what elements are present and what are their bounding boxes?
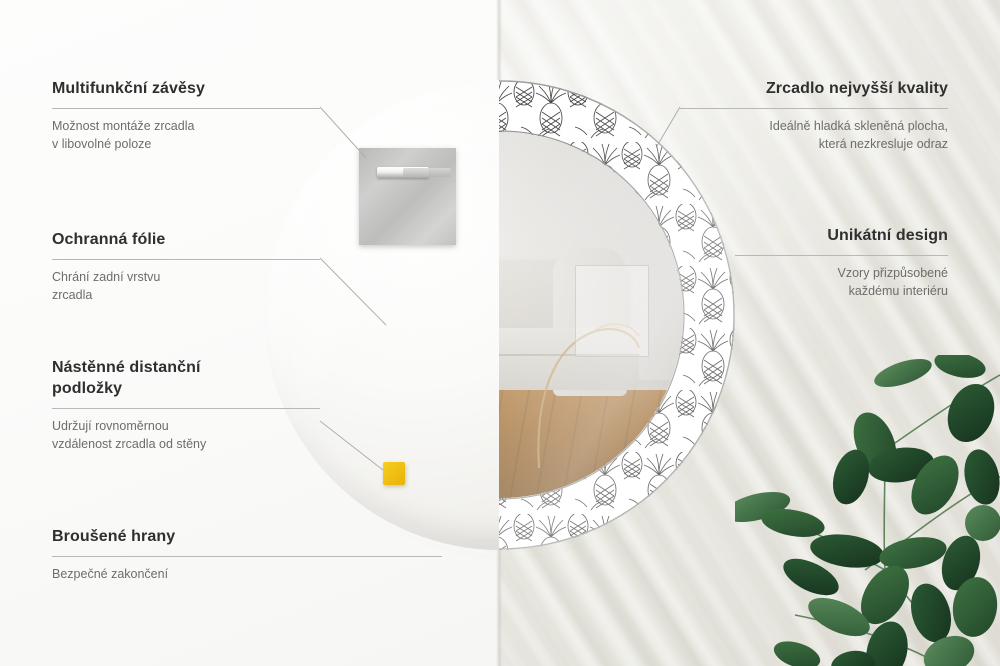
- callout-zrcadlo-nejvyssi-kvality: Zrcadlo nejvyšší kvality Ideálně hladká …: [680, 78, 948, 153]
- callout-description: Udržují rovnoměrnou vzdálenost zrcadla o…: [52, 418, 320, 453]
- callout-title: Broušené hrany: [52, 526, 442, 547]
- mirror-back-sticker: [575, 265, 649, 357]
- callout-rule: [52, 259, 320, 260]
- callout-title: Nástěnné distanční podložky: [52, 357, 320, 399]
- round-mirror: [265, 80, 735, 550]
- infographic-canvas: Multifunkční závěsy Možnost montáže zrca…: [0, 0, 1000, 666]
- callout-description: Chrání zadní vrstvu zrcadla: [52, 269, 320, 304]
- wall-spacer-pad: [383, 462, 405, 485]
- callout-ochranna-folie: Ochranná fólie Chrání zadní vrstvu zrcad…: [52, 229, 320, 304]
- callout-rule: [52, 556, 442, 557]
- callout-description: Bezpečné zakončení: [52, 566, 442, 584]
- foliage-decoration: [735, 355, 1000, 666]
- callout-description: Ideálně hladká skleněná plocha, která ne…: [680, 118, 948, 153]
- callout-description: Vzory přizpůsobené každému interiéru: [735, 265, 948, 300]
- hanger-slot-shadow: [403, 168, 451, 177]
- callout-title: Multifunkční závěsy: [52, 78, 320, 99]
- callout-rule: [52, 408, 320, 409]
- callout-multifunkcni-zavesy: Multifunkční závěsy Možnost montáže zrca…: [52, 78, 320, 153]
- callout-description: Možnost montáže zrcadla v libovolné polo…: [52, 118, 320, 153]
- hanger-plate: [359, 148, 456, 245]
- callout-rule: [735, 255, 948, 256]
- callout-title: Unikátní design: [735, 225, 948, 246]
- callout-brousene-hrany: Broušené hrany Bezpečné zakončení: [52, 526, 442, 584]
- callout-title: Zrcadlo nejvyšší kvality: [680, 78, 948, 99]
- callout-rule: [52, 108, 320, 109]
- callout-rule: [680, 108, 948, 109]
- callout-title: Ochranná fólie: [52, 229, 320, 250]
- callout-unikatni-design: Unikátní design Vzory přizpůsobené každé…: [735, 225, 948, 300]
- callout-nastenne-distancni-podlozky: Nástěnné distanční podložky Udržují rovn…: [52, 357, 320, 453]
